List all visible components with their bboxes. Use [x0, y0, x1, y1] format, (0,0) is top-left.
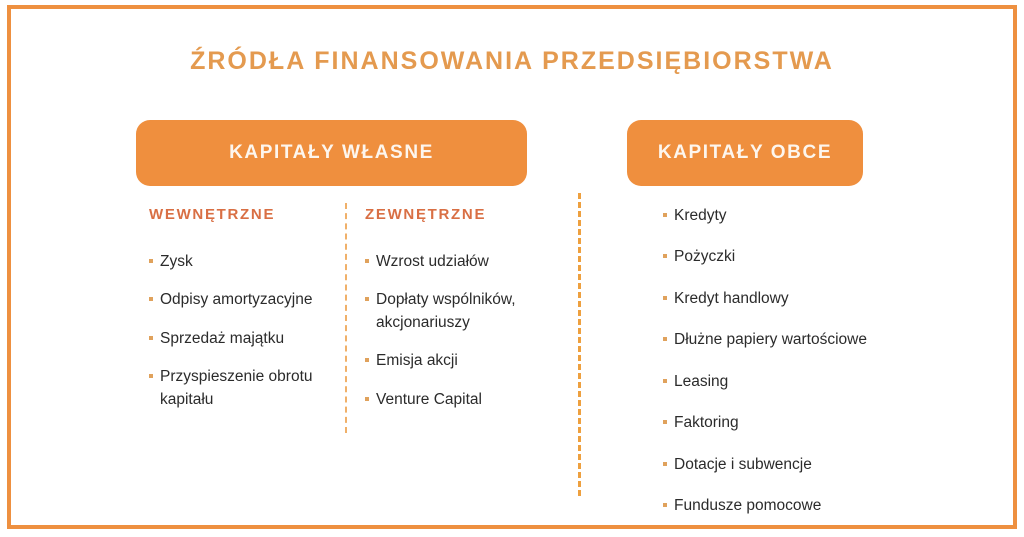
dashed-divider-internal-external	[345, 203, 347, 433]
list-item: Emisja akcji	[365, 350, 565, 372]
list-item: Odpisy amortyzacyjne	[149, 289, 334, 311]
list-internal-sources: Zysk Odpisy amortyzacyjne Sprzedaż mająt…	[149, 251, 334, 411]
bullet-icon	[663, 462, 667, 466]
list-item-label: Kredyty	[674, 207, 727, 224]
infographic-poster: ŹRÓDŁA FINANSOWANIA PRZEDSIĘBIORSTWA KAP…	[0, 0, 1024, 535]
list-item-label: Sprzedaż majątku	[160, 330, 284, 347]
section-header-foreign-capital-label: KAPITAŁY OBCE	[658, 142, 832, 164]
list-external-sources: Wzrost udziałów Dopłaty wspólników, akcj…	[365, 251, 565, 411]
bullet-icon	[149, 297, 153, 301]
bullet-icon	[365, 358, 369, 362]
column-foreign-sources: Kredyty Pożyczki Kredyt handlowy Dłużne …	[663, 205, 933, 537]
list-item: Sprzedaż majątku	[149, 328, 334, 350]
list-item: Dopłaty wspólników, akcjonariuszy	[365, 289, 565, 334]
page-title: ŹRÓDŁA FINANSOWANIA PRZEDSIĘBIORSTWA	[0, 47, 1024, 76]
list-item-label: Dłużne papiery wartościowe	[674, 331, 867, 348]
list-item: Fundusze pomocowe	[663, 495, 933, 517]
bullet-icon	[149, 259, 153, 263]
dashed-divider-own-foreign	[578, 193, 581, 496]
list-item-label: Wzrost udziałów	[376, 253, 489, 270]
list-item-label: Przyspieszenie obrotu kapitału	[160, 368, 313, 407]
column-external-sources: ZEWNĘTRZNE Wzrost udziałów Dopłaty wspól…	[365, 206, 565, 411]
list-item-label: Venture Capital	[376, 391, 482, 408]
list-item: Wzrost udziałów	[365, 251, 565, 273]
bullet-icon	[149, 374, 153, 378]
subheading-external: ZEWNĘTRZNE	[365, 206, 565, 223]
list-item: Leasing	[663, 371, 933, 393]
bullet-icon	[663, 503, 667, 507]
list-item-label: Odpisy amortyzacyjne	[160, 291, 312, 308]
column-internal-sources: WEWNĘTRZNE Zysk Odpisy amortyzacyjne Spr…	[149, 206, 334, 411]
bullet-icon	[663, 420, 667, 424]
list-item-label: Zysk	[160, 253, 193, 270]
section-header-foreign-capital: KAPITAŁY OBCE	[627, 120, 863, 186]
subheading-internal: WEWNĘTRZNE	[149, 206, 334, 223]
list-item: Faktoring	[663, 412, 933, 434]
list-item: Zysk	[149, 251, 334, 273]
section-header-own-capital: KAPITAŁY WŁASNE	[136, 120, 527, 186]
list-item-label: Pożyczki	[674, 248, 735, 265]
list-item-label: Leasing	[674, 373, 728, 390]
list-item-label: Dotacje i subwencje	[674, 456, 812, 473]
list-item: Przyspieszenie obrotu kapitału	[149, 366, 334, 411]
list-item: Pożyczki	[663, 246, 933, 268]
list-item: Dotacje i subwencje	[663, 454, 933, 476]
bullet-icon	[365, 259, 369, 263]
bullet-icon	[149, 336, 153, 340]
bullet-icon	[663, 337, 667, 341]
list-item-label: Kredyt handlowy	[674, 290, 789, 307]
bullet-icon	[663, 296, 667, 300]
list-item: Kredyt handlowy	[663, 288, 933, 310]
list-item-label: Emisja akcji	[376, 352, 458, 369]
list-item-label: Fundusze pomocowe	[674, 497, 821, 514]
section-header-own-capital-label: KAPITAŁY WŁASNE	[229, 142, 434, 164]
list-item-label: Faktoring	[674, 414, 739, 431]
bullet-icon	[365, 297, 369, 301]
list-item: Venture Capital	[365, 389, 565, 411]
bullet-icon	[663, 379, 667, 383]
list-item: Kredyty	[663, 205, 933, 227]
bullet-icon	[365, 397, 369, 401]
list-item: Dłużne papiery wartościowe	[663, 329, 933, 351]
list-foreign-sources: Kredyty Pożyczki Kredyt handlowy Dłużne …	[663, 205, 933, 518]
bullet-icon	[663, 254, 667, 258]
bullet-icon	[663, 213, 667, 217]
list-item-label: Dopłaty wspólników, akcjonariuszy	[376, 291, 516, 330]
